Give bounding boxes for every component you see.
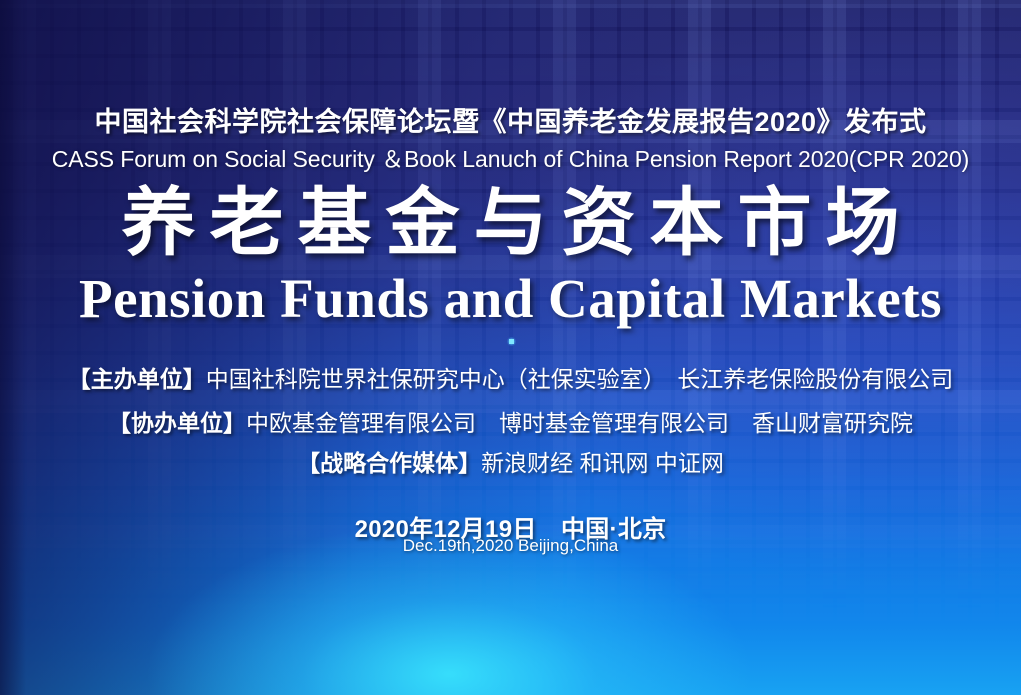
organizer-value-host: 中国社科院世界社保研究中心（社保实验室） 长江养老保险股份有限公司 [206, 366, 954, 392]
sparkle-icon [507, 337, 516, 346]
organizer-tag-media: 【战略合作媒体】 [297, 450, 481, 476]
organizer-value-cohost: 中欧基金管理有限公司 博时基金管理有限公司 香山财富研究院 [246, 410, 913, 436]
organizer-tag-host: 【主办单位】 [68, 366, 206, 392]
organizer-tag-cohost: 【协办单位】 [108, 410, 246, 436]
organizer-value-media: 新浪财经 和讯网 中证网 [481, 450, 724, 476]
header-title-cn: 中国社会科学院社会保障论坛暨《中国养老金发展报告2020》发布式 [0, 100, 1021, 139]
header-title-en: CASS Forum on Social Security ＆Book Lanu… [0, 140, 1021, 174]
main-title-cn: 养老基金与资本市场 [0, 186, 1021, 260]
organizer-line-cohost: 【协办单位】中欧基金管理有限公司 博时基金管理有限公司 香山财富研究院 [0, 404, 1021, 438]
event-date-en: Dec.19th,2020 Beijing,China [0, 536, 1021, 556]
main-title-en: Pension Funds and Capital Markets [0, 271, 1021, 326]
banner-content: 中国社会科学院社会保障论坛暨《中国养老金发展报告2020》发布式 CASS Fo… [0, 0, 1021, 695]
conference-banner: 中国社会科学院社会保障论坛暨《中国养老金发展报告2020》发布式 CASS Fo… [0, 0, 1021, 695]
organizer-line-media: 【战略合作媒体】新浪财经 和讯网 中证网 [0, 444, 1021, 478]
organizer-line-host: 【主办单位】中国社科院世界社保研究中心（社保实验室） 长江养老保险股份有限公司 [0, 360, 1021, 394]
